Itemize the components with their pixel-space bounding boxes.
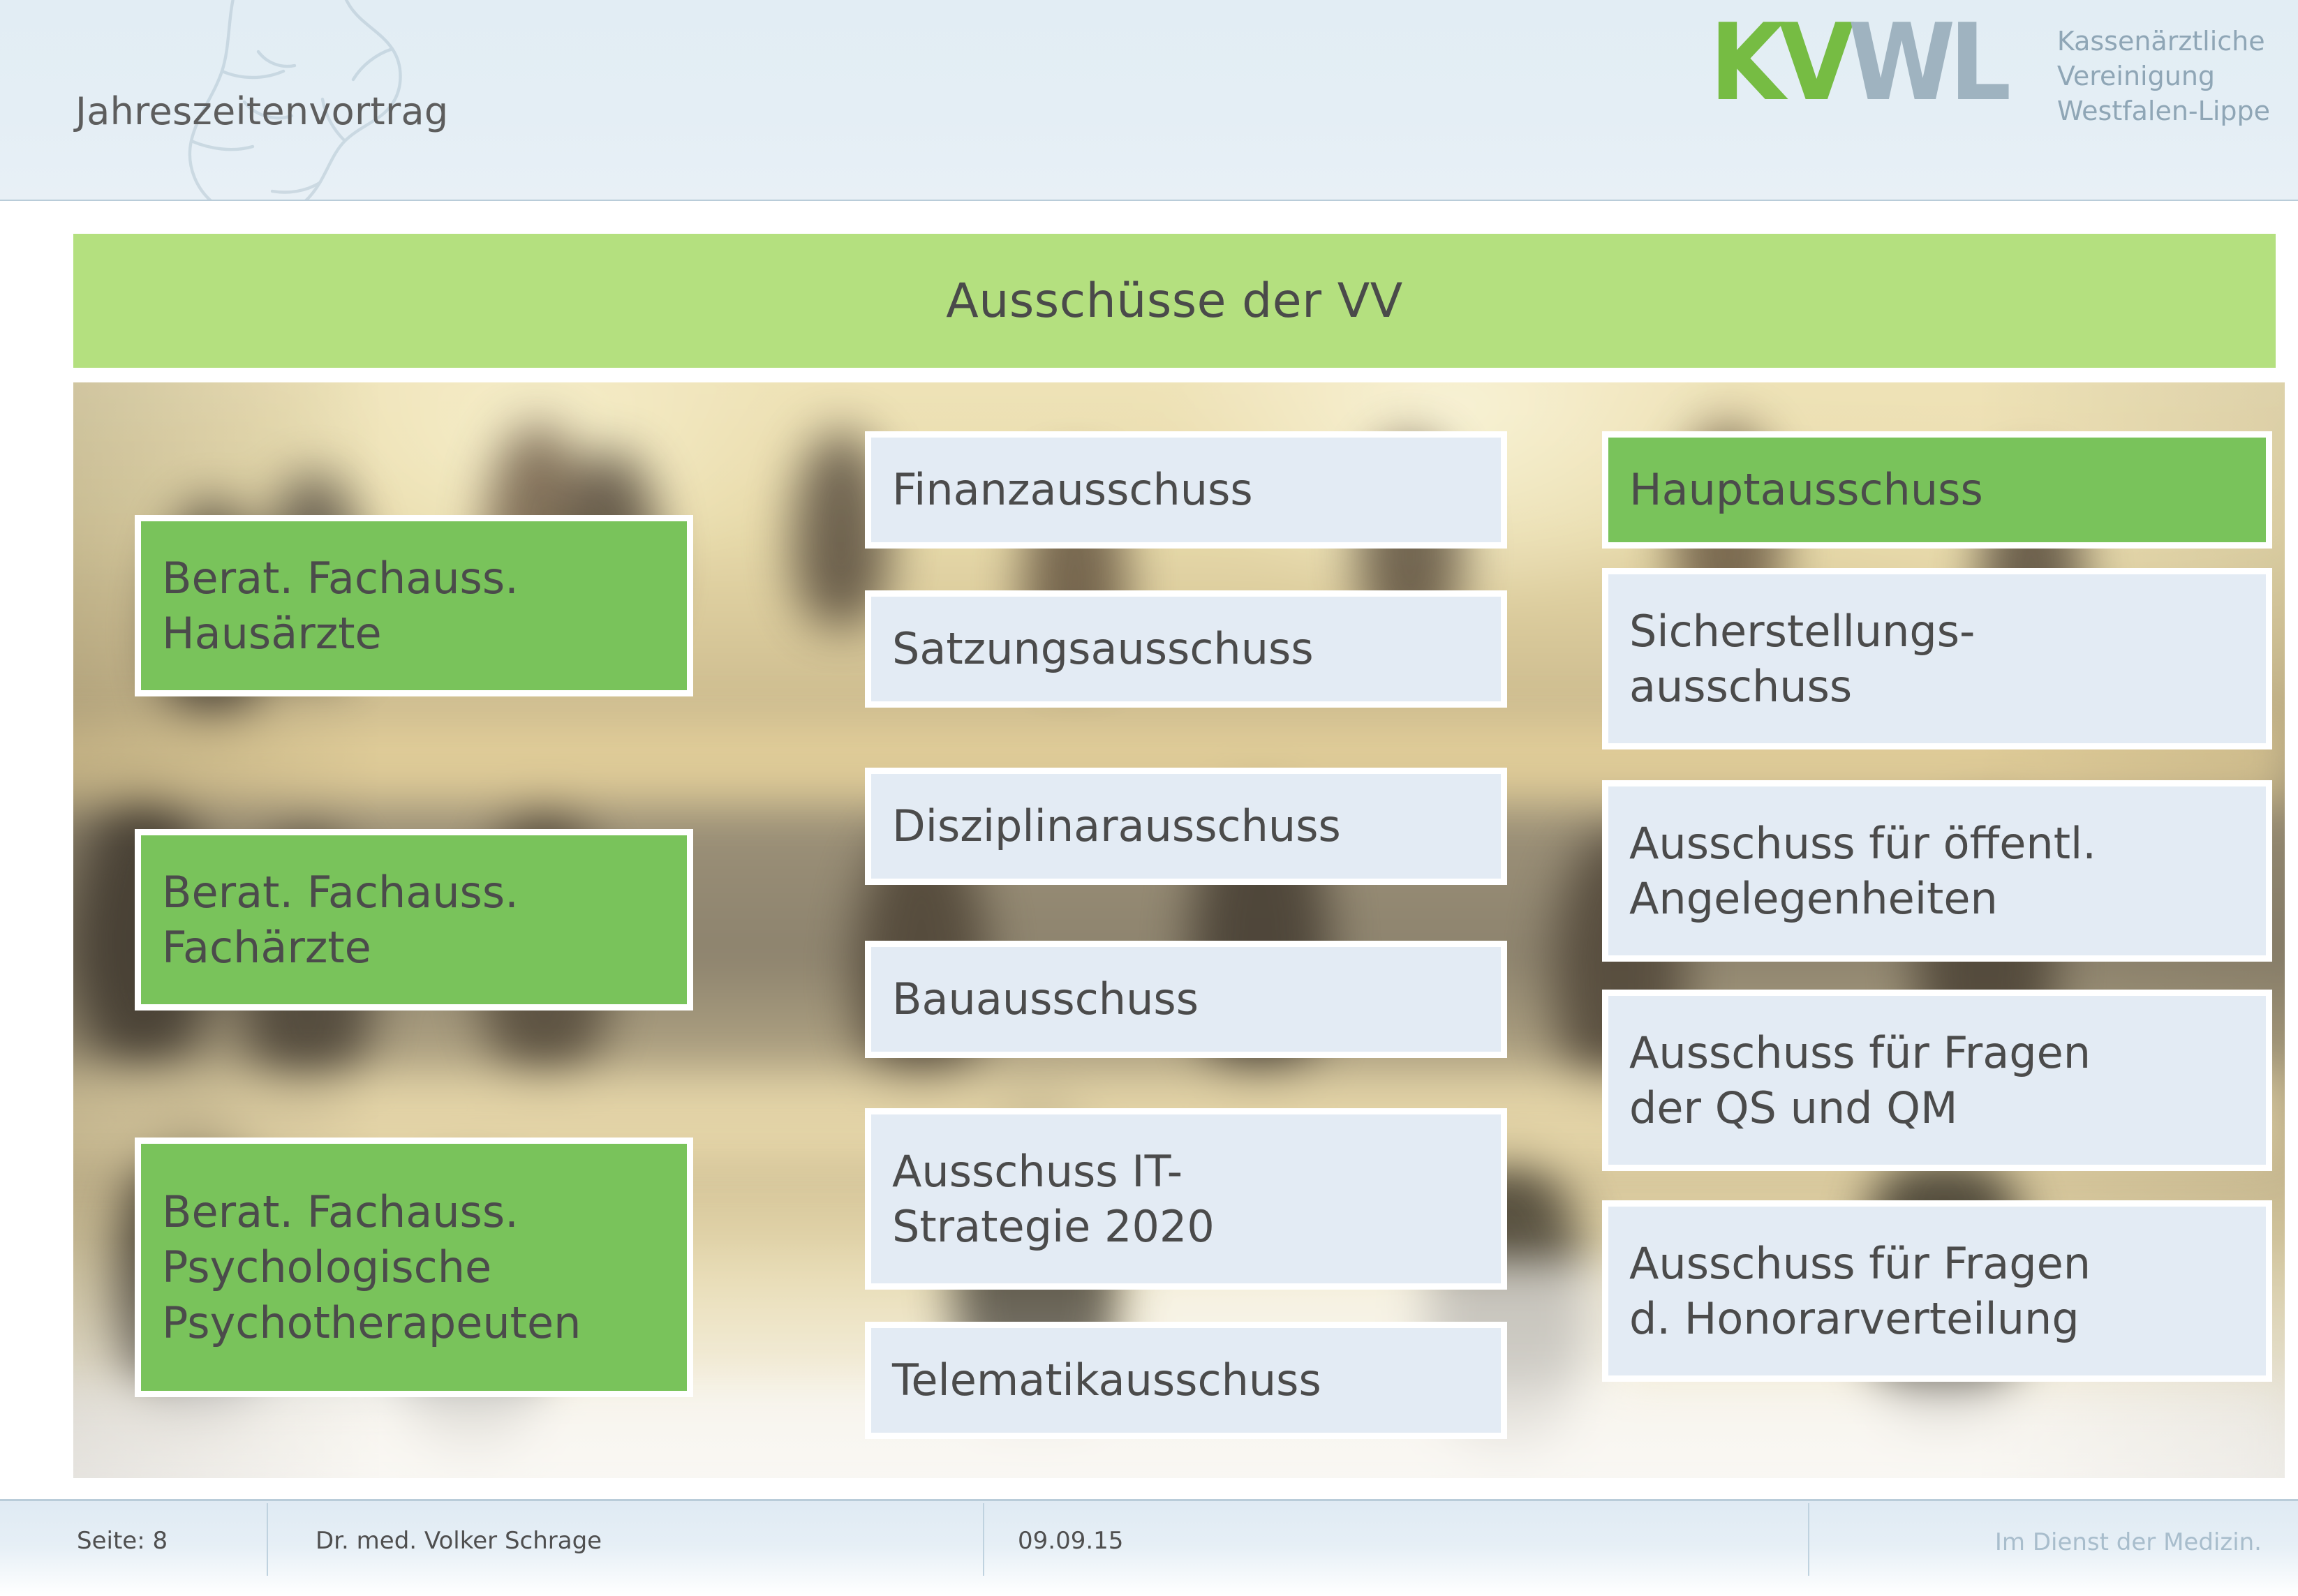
header-divider — [0, 200, 2298, 201]
footer-separator — [267, 1503, 268, 1576]
committee-label-line: Strategie 2020 — [892, 1199, 1480, 1254]
committee-label-line: ausschuss — [1629, 659, 2245, 714]
kvwl-logo-kv: KV — [1710, 1, 1848, 124]
kvwl-logo: KVWL Kassenärztliche Vereinigung Westfal… — [1710, 14, 2270, 128]
committee-label-line: Ausschuss für Fragen — [1629, 1236, 2245, 1291]
committee-box-hauptausschuss[interactable]: Hauptausschuss — [1602, 431, 2272, 549]
committee-label-line: Berat. Fachauss. — [162, 865, 666, 920]
presentation-slide: Jahreszeitenvortrag KVWL Kassenärztliche… — [0, 0, 2298, 1596]
committee-label-line: Berat. Fachauss. — [162, 551, 666, 606]
slide-footer: Seite: 8 Dr. med. Volker Schrage 09.09.1… — [0, 1499, 2298, 1596]
content-stage: Berat. Fachauss. Hausärzte Berat. Fachau… — [73, 382, 2285, 1478]
kvwl-logo-line-2: Vereinigung — [2057, 59, 2270, 94]
footer-author: Dr. med. Volker Schrage — [316, 1527, 602, 1555]
footer-claim: Im Dienst der Medizin. — [1995, 1528, 2262, 1556]
committee-box-ausschuss-it-strategie-2020[interactable]: Ausschuss IT- Strategie 2020 — [865, 1108, 1507, 1290]
footer-page-number: Seite: 8 — [77, 1527, 168, 1555]
committee-label-line: Finanzausschuss — [892, 462, 1480, 517]
committee-box-sicherstellungsausschuss[interactable]: Sicherstellungs- ausschuss — [1602, 568, 2272, 749]
kvwl-logo-line-1: Kassenärztliche — [2057, 24, 2270, 59]
kvwl-logo-line-3: Westfalen-Lippe — [2057, 94, 2270, 128]
committee-box-ausschuss-fragen-honorarverteilung[interactable]: Ausschuss für Fragen d. Honorarverteilun… — [1602, 1200, 2272, 1382]
committee-label-line: Bauausschuss — [892, 971, 1480, 1027]
page-title: Jahreszeitenvortrag — [75, 89, 448, 133]
committee-box-finanzausschuss[interactable]: Finanzausschuss — [865, 431, 1507, 549]
committee-box-ausschuss-oeffentliche-angelegenheiten[interactable]: Ausschuss für öffentl. Angelegenheiten — [1602, 780, 2272, 962]
committee-label-line: Satzungsausschuss — [892, 621, 1480, 676]
committee-label-line: Hausärzte — [162, 606, 666, 661]
committee-label-line: Disziplinarausschuss — [892, 798, 1480, 853]
footer-divider — [0, 1499, 2298, 1501]
committee-box-berat-fachauss-fachaerzte[interactable]: Berat. Fachauss. Fachärzte — [135, 829, 693, 1010]
slide-header: Jahreszeitenvortrag KVWL Kassenärztliche… — [0, 0, 2298, 201]
footer-separator — [983, 1503, 984, 1576]
committee-label-line: d. Honorarverteilung — [1629, 1291, 2245, 1346]
kvwl-logo-subtitle: Kassenärztliche Vereinigung Westfalen-Li… — [2057, 24, 2270, 128]
committee-label-line: Angelegenheiten — [1629, 871, 2245, 926]
committee-label-line: Psychologische — [162, 1239, 666, 1295]
footer-date: 09.09.15 — [1018, 1527, 1123, 1555]
kvwl-logo-wl: WL — [1848, 1, 2005, 124]
committee-label-line: Ausschuss für öffentl. — [1629, 816, 2245, 871]
committee-label-line: Hauptausschuss — [1629, 462, 2245, 517]
slide-title-bar: Ausschüsse der VV — [73, 234, 2276, 368]
committee-box-berat-fachauss-hausaerzte[interactable]: Berat. Fachauss. Hausärzte — [135, 515, 693, 696]
footer-separator — [1808, 1503, 1809, 1576]
committee-label-line: Ausschuss IT- — [892, 1144, 1480, 1199]
committee-label-line: Ausschuss für Fragen — [1629, 1025, 2245, 1080]
committee-box-disziplinarausschuss[interactable]: Disziplinarausschuss — [865, 768, 1507, 885]
committee-box-telematikausschuss[interactable]: Telematikausschuss — [865, 1322, 1507, 1439]
committee-label-line: Sicherstellungs- — [1629, 604, 2245, 659]
committee-box-bauausschuss[interactable]: Bauausschuss — [865, 941, 1507, 1058]
kvwl-logo-mark: KVWL — [1710, 14, 2005, 112]
committee-label-line: Telematikausschuss — [892, 1352, 1480, 1408]
committee-box-ausschuss-fragen-qs-qm[interactable]: Ausschuss für Fragen der QS und QM — [1602, 990, 2272, 1171]
committee-label-line: Berat. Fachauss. — [162, 1184, 666, 1239]
committee-box-berat-fachauss-psychotherapeuten[interactable]: Berat. Fachauss. Psychologische Psychoth… — [135, 1138, 693, 1397]
committee-label-line: Psychotherapeuten — [162, 1295, 666, 1350]
committee-box-satzungsausschuss[interactable]: Satzungsausschuss — [865, 590, 1507, 708]
slide-title: Ausschüsse der VV — [946, 274, 1402, 329]
committee-label-line: Fachärzte — [162, 920, 666, 975]
committee-label-line: der QS und QM — [1629, 1080, 2245, 1135]
